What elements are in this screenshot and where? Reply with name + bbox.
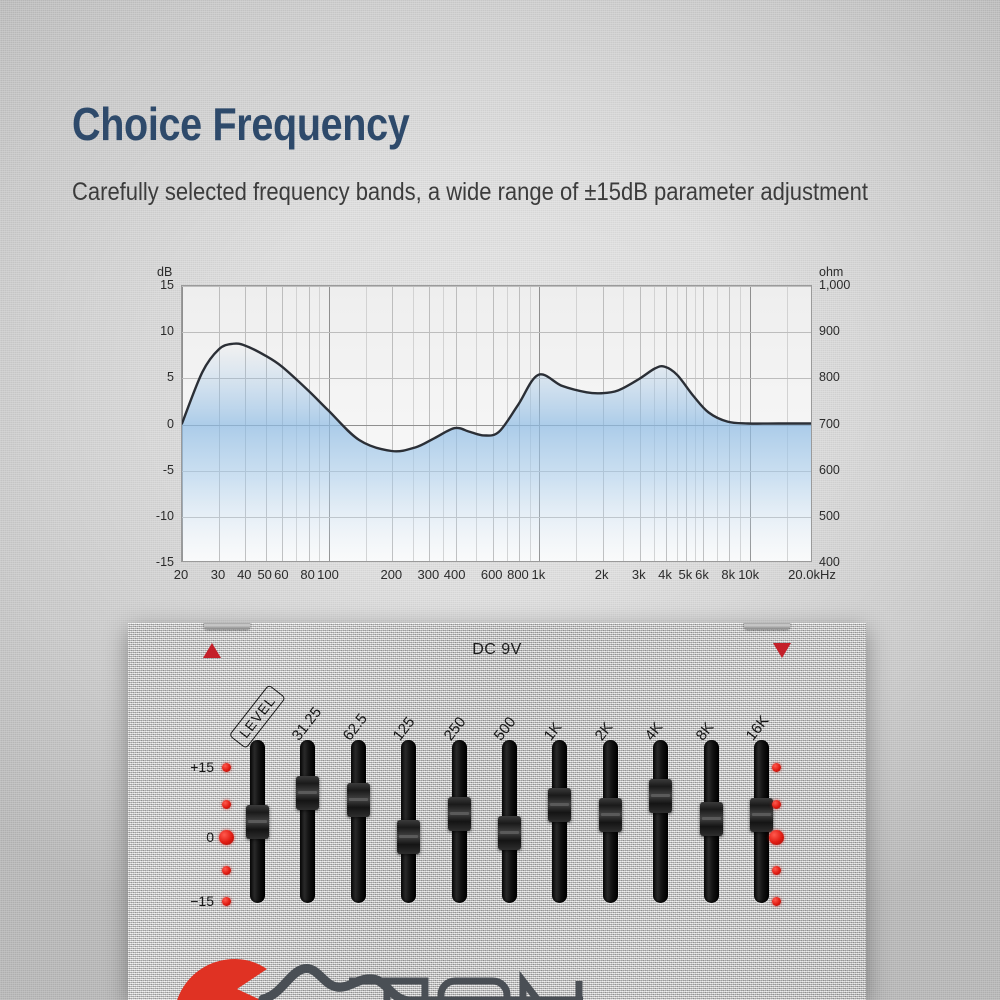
y-axis-tick-label: 5 bbox=[167, 370, 174, 384]
y2-axis-tick-label: 1,000 bbox=[819, 278, 850, 292]
power-label: DC 9V bbox=[128, 641, 866, 659]
y2-axis-tick-label: 500 bbox=[819, 509, 840, 523]
slider-slot[interactable] bbox=[502, 740, 517, 903]
slider-slot[interactable] bbox=[754, 740, 769, 903]
slider-knob[interactable] bbox=[498, 816, 521, 850]
x-axis-tick-label: 1k bbox=[531, 567, 545, 582]
x-axis-tick-label: 30 bbox=[211, 567, 225, 582]
x-axis-tick-label: 60 bbox=[274, 567, 288, 582]
x-axis-tick-label: 2k bbox=[595, 567, 609, 582]
y2-axis-tick-label: 800 bbox=[819, 370, 840, 384]
scale-label-zero: 0 bbox=[174, 829, 214, 845]
brand-logo bbox=[163, 933, 583, 1000]
led-indicator bbox=[219, 830, 234, 845]
slider-knob[interactable] bbox=[296, 776, 319, 810]
frequency-curve bbox=[182, 286, 811, 561]
slider-knob[interactable] bbox=[548, 788, 571, 822]
led-indicator bbox=[772, 800, 781, 809]
slider-knob[interactable] bbox=[649, 779, 672, 813]
y-axis-tick-label: 15 bbox=[160, 278, 174, 292]
x-axis-tick-label: 6k bbox=[695, 567, 709, 582]
page-subtitle: Carefully selected frequency bands, a wi… bbox=[72, 178, 868, 207]
x-axis-tick-label: 8k bbox=[721, 567, 735, 582]
slider-slot[interactable] bbox=[552, 740, 567, 903]
slider-slot[interactable] bbox=[401, 740, 416, 903]
frequency-response-chart: dB ohm 151050-5-10-15 1,0009008007006005… bbox=[181, 285, 812, 562]
led-indicator bbox=[222, 897, 231, 906]
slider-slot[interactable] bbox=[250, 740, 265, 903]
scale-label-minus15: −15 bbox=[174, 893, 214, 909]
scale-label-plus15: +15 bbox=[174, 759, 214, 775]
slider-slot[interactable] bbox=[300, 740, 315, 903]
chart-plot-area bbox=[181, 285, 812, 562]
x-axis-tick-label: 600 bbox=[481, 567, 503, 582]
x-axis-tick-label: 80 bbox=[300, 567, 314, 582]
slider-knob[interactable] bbox=[397, 820, 420, 854]
led-indicator bbox=[772, 897, 781, 906]
y-axis-unit-db: dB bbox=[157, 265, 172, 279]
slider-knob[interactable] bbox=[750, 798, 773, 832]
y-axis-unit-ohm: ohm bbox=[819, 265, 843, 279]
page-title: Choice Frequency bbox=[72, 97, 409, 151]
x-axis-tick-label: 200 bbox=[380, 567, 402, 582]
x-axis-tick-label: 800 bbox=[507, 567, 529, 582]
x-axis-tick-label: 20 bbox=[174, 567, 188, 582]
y-axis-tick-label: -10 bbox=[156, 509, 174, 523]
y2-axis-tick-label: 900 bbox=[819, 324, 840, 338]
input-jack[interactable] bbox=[204, 623, 250, 629]
y-axis-tick-label: 10 bbox=[160, 324, 174, 338]
y-axis-tick-label: -15 bbox=[156, 555, 174, 569]
led-indicator bbox=[222, 763, 231, 772]
slider-slot[interactable] bbox=[653, 740, 668, 903]
y2-axis-tick-label: 600 bbox=[819, 463, 840, 477]
x-axis-tick-label: 10k bbox=[738, 567, 759, 582]
slider-slot[interactable] bbox=[704, 740, 719, 903]
x-axis-tick-label: 5k bbox=[678, 567, 692, 582]
led-indicator bbox=[222, 866, 231, 875]
slider-knob[interactable] bbox=[448, 797, 471, 831]
slider-knob[interactable] bbox=[246, 805, 269, 839]
slider-knob[interactable] bbox=[347, 783, 370, 817]
y-axis-tick-label: 0 bbox=[167, 417, 174, 431]
x-axis-tick-label: 400 bbox=[444, 567, 466, 582]
slider-slot[interactable] bbox=[603, 740, 618, 903]
output-jack[interactable] bbox=[744, 623, 790, 629]
x-axis-tick-label: 300 bbox=[418, 567, 440, 582]
x-axis-tick-label: 4k bbox=[658, 567, 672, 582]
y2-axis-tick-label: 700 bbox=[819, 417, 840, 431]
x-axis-tick-label: 3k bbox=[632, 567, 646, 582]
led-indicator bbox=[222, 800, 231, 809]
x-axis-tick-label: 40 bbox=[237, 567, 251, 582]
slider-knob[interactable] bbox=[599, 798, 622, 832]
slider-slot[interactable] bbox=[452, 740, 467, 903]
led-indicator bbox=[772, 763, 781, 772]
slider-slot[interactable] bbox=[351, 740, 366, 903]
led-indicator bbox=[769, 830, 784, 845]
led-indicator bbox=[772, 866, 781, 875]
x-axis-tick-label: 20.0kHz bbox=[788, 567, 836, 582]
y-axis-tick-label: -5 bbox=[163, 463, 174, 477]
slider-knob[interactable] bbox=[700, 802, 723, 836]
x-axis-tick-label: 100 bbox=[317, 567, 339, 582]
eq-pedal-body: DC 9V LEVEL31.2562.51252505001K2K4K8K16K… bbox=[128, 623, 866, 1000]
x-axis-tick-label: 50 bbox=[257, 567, 271, 582]
